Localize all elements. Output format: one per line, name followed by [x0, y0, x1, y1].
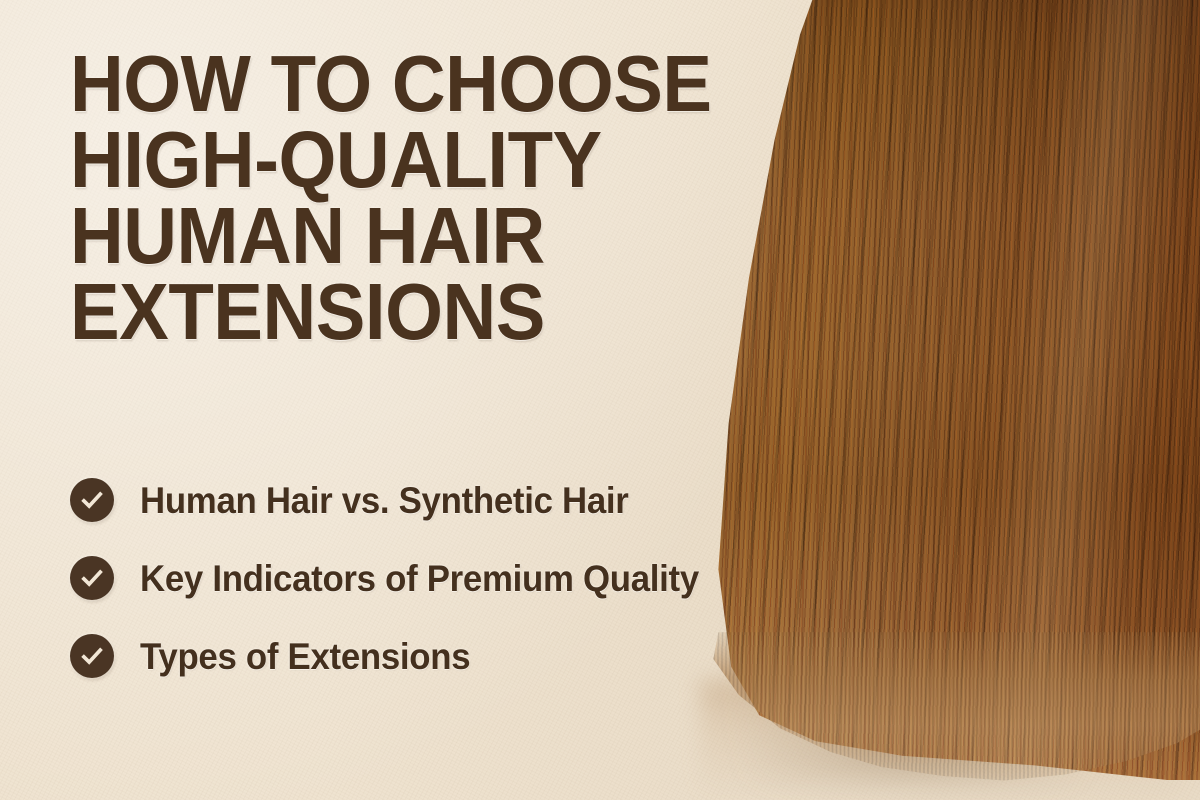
headline-line-2: HIGH-QUALITY [70, 122, 777, 198]
checklist: Human Hair vs. Synthetic Hair Key Indica… [70, 470, 970, 704]
checklist-item-label: Types of Extensions [140, 638, 470, 675]
page-title: HOW TO CHOOSE HIGH-QUALITY HUMAN HAIR EX… [70, 46, 777, 350]
checklist-item-label: Human Hair vs. Synthetic Hair [140, 482, 629, 519]
headline-line-4: EXTENSIONS [70, 274, 777, 350]
list-item: Human Hair vs. Synthetic Hair [70, 470, 970, 530]
list-item: Types of Extensions [70, 626, 970, 686]
headline-line-3: HUMAN HAIR [70, 198, 777, 274]
poster-canvas: HOW TO CHOOSE HIGH-QUALITY HUMAN HAIR EX… [0, 0, 1200, 800]
list-item: Key Indicators of Premium Quality [70, 548, 970, 608]
poster-content: HOW TO CHOOSE HIGH-QUALITY HUMAN HAIR EX… [0, 0, 1200, 800]
check-circle-icon [70, 478, 114, 522]
check-circle-icon [70, 634, 114, 678]
checklist-item-label: Key Indicators of Premium Quality [140, 560, 699, 597]
check-circle-icon [70, 556, 114, 600]
headline-line-1: HOW TO CHOOSE [70, 46, 777, 122]
